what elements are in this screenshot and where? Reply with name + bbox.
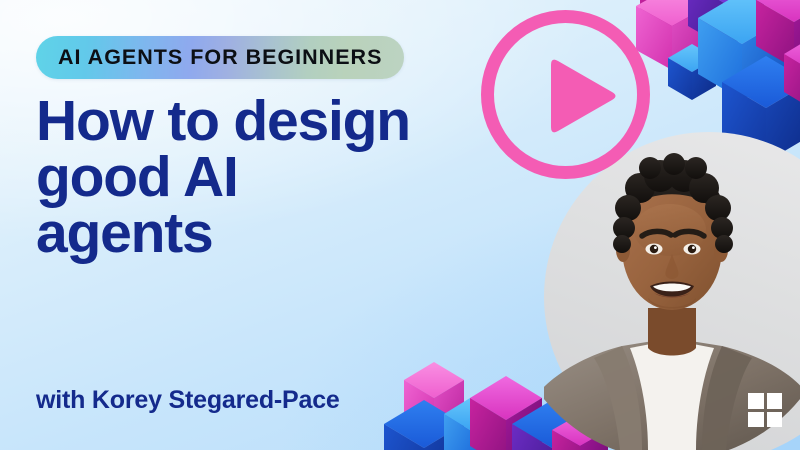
microsoft-logo-icon — [748, 393, 782, 427]
title-line-3: agents — [36, 206, 506, 262]
title-line-2: good AI — [36, 150, 506, 206]
series-badge-label: AI AGENTS FOR BEGINNERS — [58, 45, 382, 70]
page-title: How to design good AI agents — [36, 94, 506, 262]
microsoft-logo-square-3 — [748, 412, 764, 428]
microsoft-logo-square-2 — [767, 393, 783, 409]
microsoft-logo-square-1 — [748, 393, 764, 409]
presenter-byline: with Korey Stegared-Pace — [36, 386, 340, 415]
series-badge: AI AGENTS FOR BEGINNERS — [36, 36, 404, 79]
play-icon[interactable] — [542, 56, 620, 136]
microsoft-logo-square-4 — [767, 412, 783, 428]
video-thumbnail: AI AGENTS FOR BEGINNERS How to design go… — [0, 0, 800, 450]
title-line-1: How to design — [36, 94, 506, 150]
